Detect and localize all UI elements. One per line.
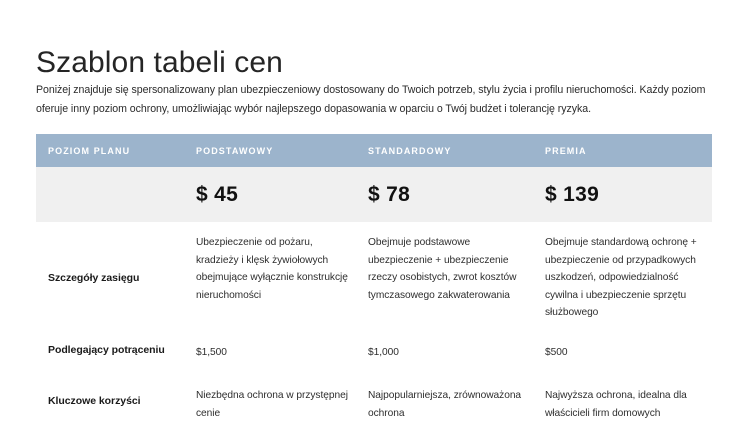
deductible-basic: $1,500 <box>196 344 368 362</box>
table-row: Kluczowe korzyści Niezbędna ochrona w pr… <box>36 369 712 430</box>
page-title: Szablon tabeli cen <box>36 44 283 82</box>
column-header-premium: PREMIA <box>545 146 712 156</box>
key-benefits-premium: Najwyższa ochrona, idealna dla właścicie… <box>545 387 712 422</box>
row-label-deductible: Podlegający potrąceniu <box>36 344 196 356</box>
deductible-premium: $500 <box>545 344 712 362</box>
price-standard: $ 78 <box>368 183 545 207</box>
pricing-table: POZIOM PLANU PODSTAWOWY STANDARDOWY PREM… <box>36 134 712 430</box>
coverage-details-standard: Obejmuje podstawowe ubezpieczenie + ubez… <box>368 234 545 304</box>
coverage-details-premium: Obejmuje standardową ochronę + ubezpiecz… <box>545 234 712 322</box>
price-basic: $ 45 <box>196 183 368 207</box>
table-row: Szczegóły zasięgu Ubezpieczenie od pożar… <box>36 222 712 328</box>
column-header-plan-level: POZIOM PLANU <box>36 146 196 156</box>
key-benefits-basic: Niezbędna ochrona w przystępnej cenie <box>196 387 368 422</box>
column-header-basic: PODSTAWOWY <box>196 146 368 156</box>
coverage-details-basic: Ubezpieczenie od pożaru, kradzieży i klę… <box>196 234 368 304</box>
key-benefits-standard: Najpopularniejsza, zrównoważona ochrona <box>368 387 545 422</box>
row-label-key-benefits: Kluczowe korzyści <box>36 387 196 407</box>
intro-paragraph: Poniżej znajduje się spersonalizowany pl… <box>36 81 712 120</box>
column-header-standard: STANDARDOWY <box>368 146 545 156</box>
table-price-row: $ 45 $ 78 $ 139 <box>36 167 712 222</box>
pricing-template-page: Szablon tabeli cen Poniżej znajduje się … <box>0 0 750 428</box>
table-header-row: POZIOM PLANU PODSTAWOWY STANDARDOWY PREM… <box>36 134 712 167</box>
row-label-coverage-details: Szczegóły zasięgu <box>36 234 196 284</box>
deductible-standard: $1,000 <box>368 344 545 362</box>
table-row: Podlegający potrąceniu $1,500 $1,000 $50… <box>36 328 712 370</box>
price-premium: $ 139 <box>545 183 712 207</box>
